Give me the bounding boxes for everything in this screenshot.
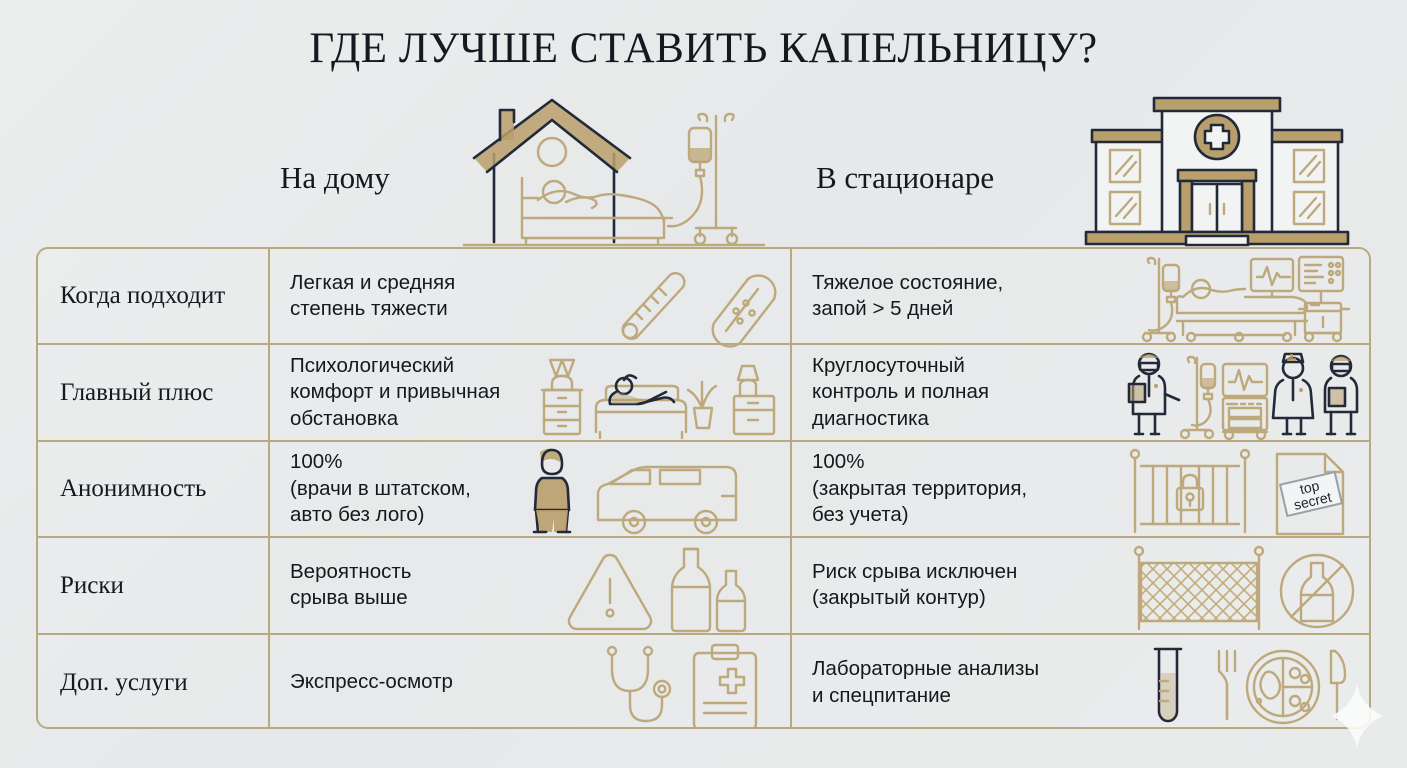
doctor-icon — [1129, 354, 1179, 434]
top-secret-document-icon: top secret — [1277, 454, 1343, 534]
hospital-cell-text: Риск срыва исключен (закрытый контур) — [792, 559, 1017, 612]
iv-stand-icon — [1181, 357, 1215, 438]
iv-stand-icon — [1143, 258, 1179, 341]
hospital-cell-text: Тяжелое состояние, запой > 5 дней — [792, 270, 1003, 323]
home-cell-text: Психологический комфорт и привычная обст… — [270, 353, 500, 433]
home-cell: 100% (врачи в штатском, авто без лого) — [270, 442, 792, 536]
table-row: Доп. услуги Экспресс-осмотр — [38, 635, 1369, 729]
bandage-icon — [713, 276, 776, 347]
ecg-monitor-icon — [1251, 259, 1293, 297]
ecg-machine-icon — [1223, 364, 1267, 439]
hospital-cell: 100% (закрытая территория, без учета) — [792, 442, 1369, 536]
side-table-icon — [734, 366, 774, 434]
svg-text:top: top — [1298, 477, 1321, 497]
row-label: Анонимность — [38, 442, 270, 536]
hospital-building-with-medical-cross-icon — [1082, 92, 1352, 247]
home-cell-icons — [566, 538, 786, 632]
svg-text:secret: secret — [1292, 489, 1333, 513]
thermometer-icon — [623, 274, 685, 340]
home-cell-icons — [526, 442, 786, 536]
medical-cabinet-icon — [1299, 303, 1349, 341]
comparison-table: Когда подходит Легкая и средняя степень … — [36, 247, 1371, 729]
hospital-cell: Риск срыва исключен (закрытый контур) — [792, 538, 1369, 632]
no-alcohol-icon — [1281, 555, 1353, 627]
row-label: Риски — [38, 538, 270, 632]
vitals-monitor-icon — [1299, 257, 1343, 303]
hospital-bed-with-patient-icon — [1177, 280, 1307, 341]
home-cell-text: Легкая и средняя степень тяжести — [270, 270, 455, 323]
home-cell-text: Экспресс-осмотр — [270, 669, 453, 696]
small-bottle-icon — [717, 571, 745, 631]
hospital-cell: Круглосуточный контроль и полная диагнос… — [792, 345, 1369, 439]
home-cell-text: Вероятность срыва выше — [270, 559, 411, 612]
stethoscope-icon — [608, 647, 670, 721]
row-label: Доп. услуги — [38, 635, 270, 729]
column-header-hospital: В стационаре — [816, 160, 994, 196]
locked-gate-icon — [1131, 450, 1249, 532]
page-title: ГДЕ ЛУЧШЕ СТАВИТЬ КАПЕЛЬНИЦУ? — [0, 24, 1407, 73]
hospital-cell: Тяжелое состояние, запой > 5 дней — [792, 249, 1369, 343]
nurse-icon — [1273, 354, 1313, 434]
hospital-cell: Лабораторные анализы и спецпитание — [792, 635, 1369, 729]
warning-triangle-icon — [569, 555, 651, 629]
home-cell: Легкая и средняя степень тяжести — [270, 249, 792, 343]
house-with-iv-drip-and-patient-in-bed-icon — [464, 92, 764, 247]
hospital-cell-text: 100% (закрытая территория, без учета) — [792, 449, 1027, 529]
unmarked-van-icon — [598, 467, 736, 533]
table-row: Когда подходит Легкая и средняя степень … — [38, 249, 1369, 345]
home-cell: Психологический комфорт и привычная обст… — [270, 345, 792, 439]
column-header-home: На дому — [280, 160, 390, 196]
hospital-cell-icons — [1125, 345, 1365, 439]
hospital-cell-icons: top secret — [1125, 442, 1365, 536]
hospital-cell-icons — [1125, 538, 1365, 632]
row-label: Главный плюс — [38, 345, 270, 439]
header-band: На дому В стационаре — [36, 92, 1371, 247]
table-row: Анонимность 100% (врачи в штатском, авто… — [38, 442, 1369, 538]
nightstand-icon — [542, 390, 582, 434]
row-label: Когда подходит — [38, 249, 270, 343]
paramedic-icon — [1325, 356, 1357, 434]
test-tube-icon — [1155, 649, 1181, 721]
home-cell-icons — [538, 345, 786, 439]
clipboard-medical-icon — [694, 645, 756, 729]
home-cell: Экспресс-осмотр — [270, 635, 792, 729]
infographic-page: ГДЕ ЛУЧШЕ СТАВИТЬ КАПЕЛЬНИЦУ? На дому В … — [0, 0, 1407, 768]
table-row: Главный плюс Психологический комфорт и п… — [38, 345, 1369, 441]
home-cell-icons — [586, 635, 786, 729]
table-row: Риски Вероятность срыва выше — [38, 538, 1369, 634]
diamond-sparkle-logo — [1327, 682, 1387, 750]
home-cell-text: 100% (врачи в штатском, авто без лого) — [270, 449, 471, 529]
home-cell: Вероятность срыва выше — [270, 538, 792, 632]
potted-plant-icon — [688, 382, 716, 428]
bottle-icon — [672, 549, 710, 631]
home-cell-icons — [606, 249, 786, 343]
person-on-sofa-icon — [596, 375, 686, 438]
hospital-cell-icons — [1135, 249, 1365, 343]
hospital-cell-text: Лабораторные анализы и спецпитание — [792, 656, 1039, 709]
person-in-plain-clothes-icon — [534, 449, 570, 533]
chain-link-fence-icon — [1135, 547, 1263, 629]
hospital-cell-text: Круглосуточный контроль и полная диагнос… — [792, 353, 989, 433]
floor-lamp-icon — [550, 360, 574, 390]
